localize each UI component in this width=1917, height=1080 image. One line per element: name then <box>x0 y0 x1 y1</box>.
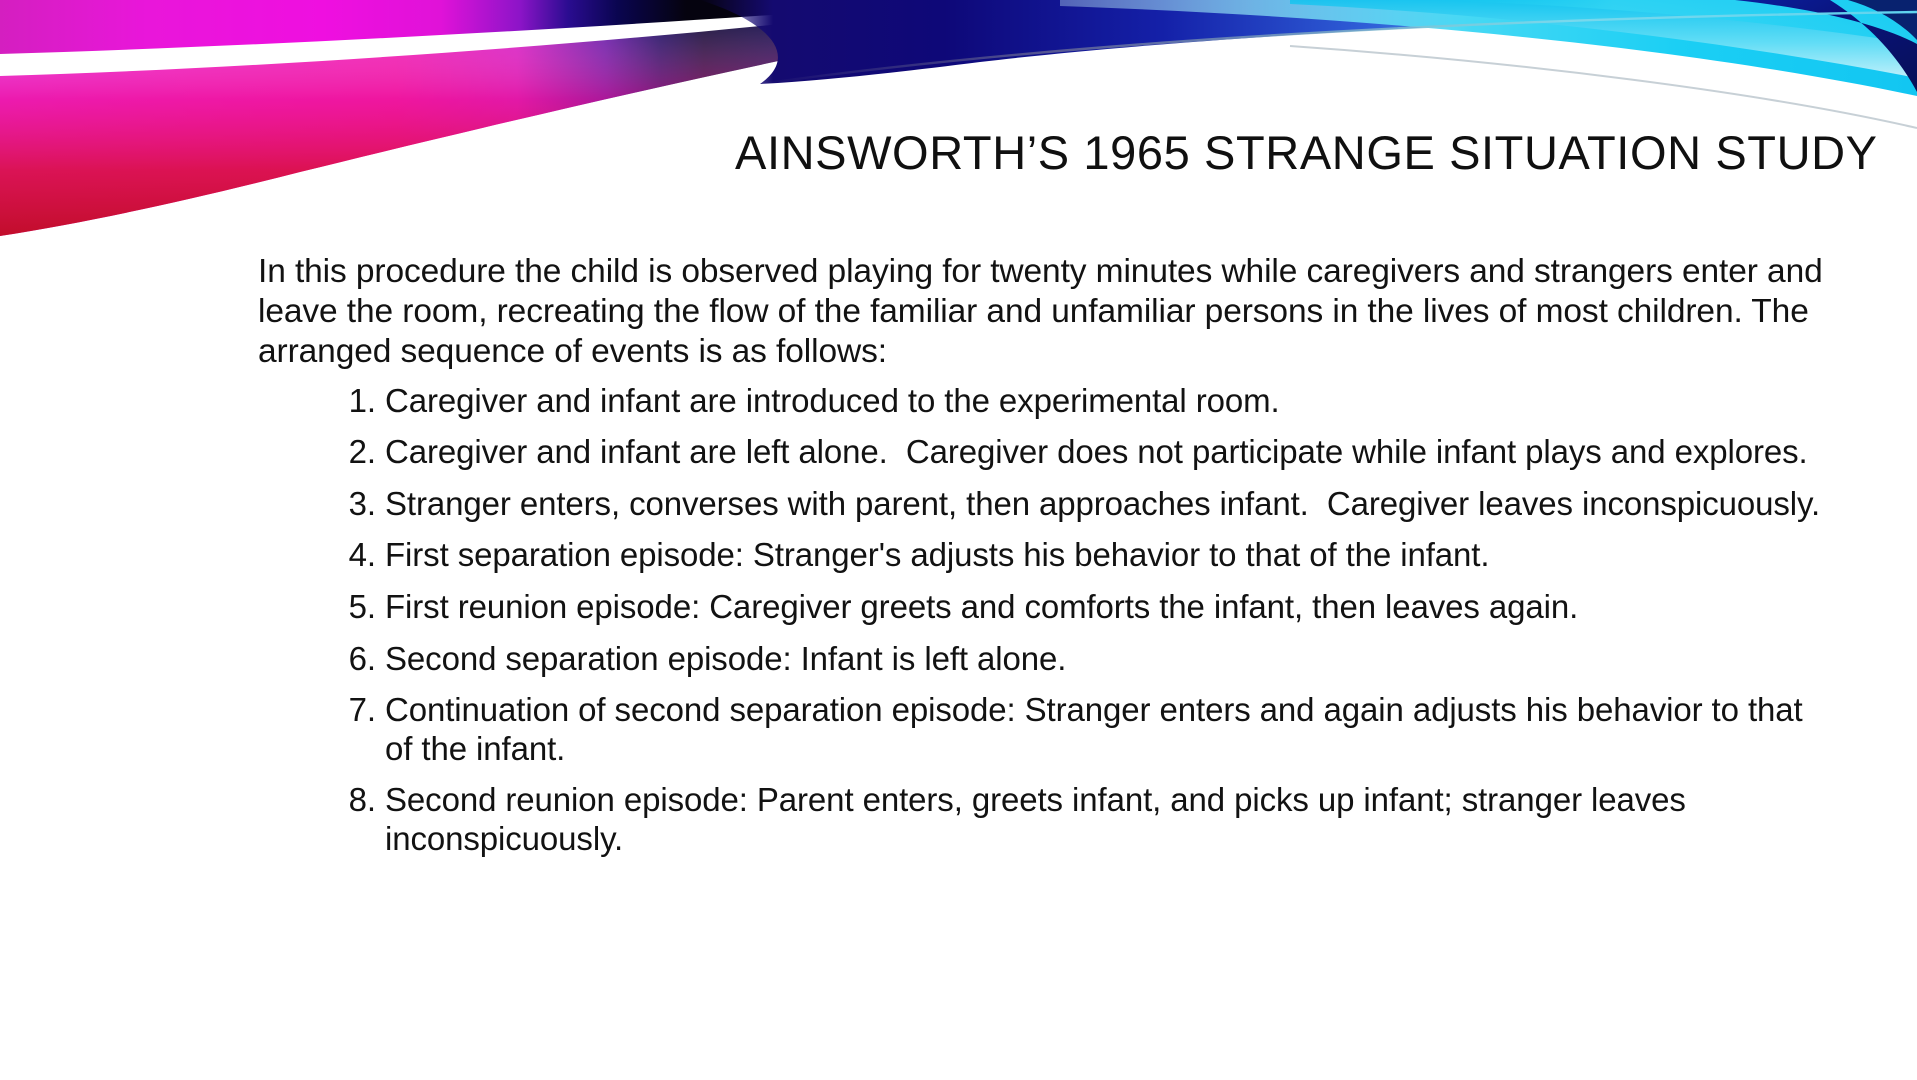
list-item-number: 1. <box>258 382 376 421</box>
header-wave-decoration <box>0 0 1917 250</box>
procedure-steps-list: 1. Caregiver and infant are introduced t… <box>258 382 1823 859</box>
list-item-label: Second separation episode: Infant is lef… <box>376 640 1823 679</box>
list-item-number: 6. <box>258 640 376 679</box>
wave-band-cyan-vertical <box>1290 0 1917 78</box>
wave-thin-outline-lower <box>1290 46 1917 128</box>
wave-band-cyan <box>1060 0 1917 96</box>
list-item-number: 2. <box>258 433 376 472</box>
list-item: 8. Second reunion episode: Parent enters… <box>258 781 1823 858</box>
wave-band-magenta-lower <box>0 0 1100 236</box>
wave-band-deep-blue-tip <box>1848 0 1917 40</box>
list-item: 7. Continuation of second separation epi… <box>258 691 1823 768</box>
slide-body: In this procedure the child is observed … <box>258 252 1823 872</box>
list-item-label: First separation episode: Stranger's adj… <box>376 536 1823 575</box>
list-item-number: 7. <box>258 691 376 730</box>
list-item-label: Second reunion episode: Parent enters, g… <box>376 781 1823 858</box>
intro-paragraph: In this procedure the child is observed … <box>258 252 1823 372</box>
list-item-label: Stranger enters, converses with parent, … <box>376 485 1823 524</box>
wave-graphic-svg <box>0 0 1917 250</box>
list-item: 6. Second separation episode: Infant is … <box>258 640 1823 679</box>
wave-thin-outline <box>760 12 1917 84</box>
wave-band-deep-blue <box>1735 0 1917 92</box>
wave-band-navy <box>700 0 1917 84</box>
wave-band-magenta-upper <box>0 0 980 54</box>
wave-band-crimson-shade <box>0 0 1100 236</box>
list-item-number: 3. <box>258 485 376 524</box>
wave-band-cyan-top <box>1450 0 1917 44</box>
list-item-label: Continuation of second separation episod… <box>376 691 1823 768</box>
list-item: 1. Caregiver and infant are introduced t… <box>258 382 1823 421</box>
list-item: 5. First reunion episode: Caregiver gree… <box>258 588 1823 627</box>
list-item: 2. Caregiver and infant are left alone. … <box>258 433 1823 472</box>
list-item-label: First reunion episode: Caregiver greets … <box>376 588 1823 627</box>
list-item: 4. First separation episode: Stranger's … <box>258 536 1823 575</box>
list-item-label: Caregiver and infant are left alone. Car… <box>376 433 1823 472</box>
page-title: AINSWORTH’S 1965 STRANGE SITUATION STUDY <box>735 128 1835 177</box>
list-item-number: 4. <box>258 536 376 575</box>
wave-split-highlight <box>0 2 980 76</box>
list-item-number: 5. <box>258 588 376 627</box>
list-item: 3. Stranger enters, converses with paren… <box>258 485 1823 524</box>
list-item-number: 8. <box>258 781 376 820</box>
slide-canvas: AINSWORTH’S 1965 STRANGE SITUATION STUDY… <box>0 0 1917 1080</box>
list-item-label: Caregiver and infant are introduced to t… <box>376 382 1823 421</box>
